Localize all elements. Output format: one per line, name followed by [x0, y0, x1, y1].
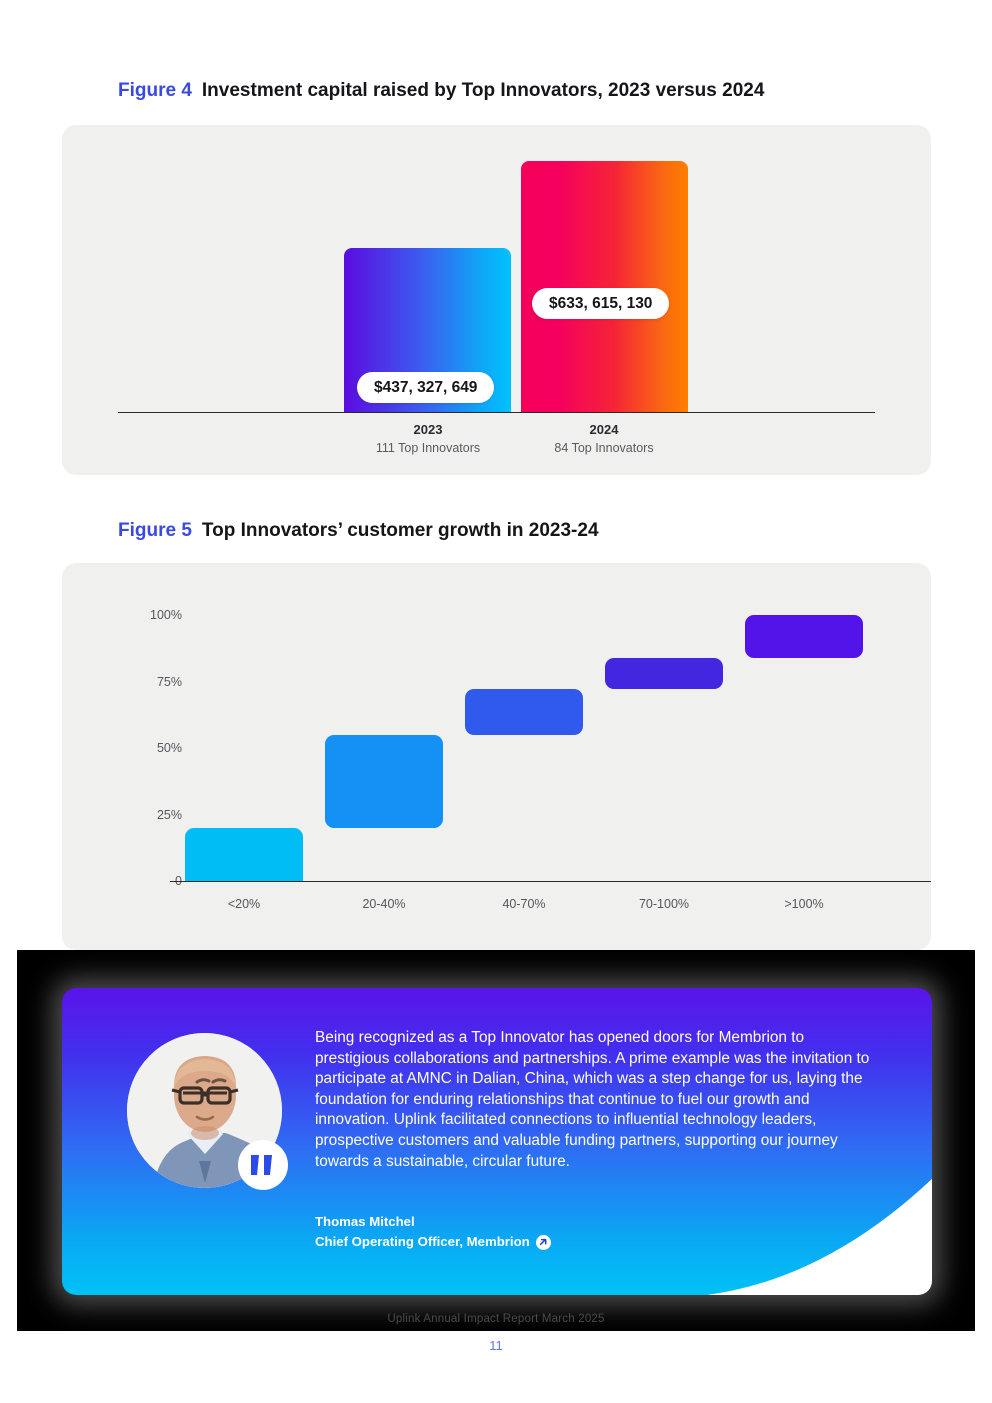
bar-70-100% — [605, 658, 723, 690]
bar-value-label-2024: $633, 615, 130 — [532, 288, 669, 319]
figure4-title: Investment capital raised by Top Innovat… — [202, 80, 765, 101]
x-axis-label-40-70%: 40-70% — [444, 897, 604, 911]
testimonial-text: Being recognized as a Top Innovator has … — [315, 1028, 878, 1172]
y-axis-tick-1: 25% — [122, 808, 182, 822]
figure5-y-axis: 025%50%75%100% — [122, 563, 182, 950]
figure4-heading: Figure 4Investment capital raised by Top… — [118, 80, 764, 102]
figure5-number: Figure 5 — [118, 520, 192, 541]
bar->100% — [745, 615, 863, 658]
x-axis-sublabel-2024: 84 Top Innovators — [489, 441, 719, 455]
y-axis-tick-3: 75% — [122, 675, 182, 689]
bar-20-40% — [325, 735, 443, 828]
figure4-baseline-axis — [118, 412, 875, 413]
x-axis-label->100%: >100% — [724, 897, 884, 911]
y-axis-tick-4: 100% — [122, 608, 182, 622]
x-axis-label-2024: 2024 84 Top Innovators — [489, 422, 719, 455]
quote-band-backdrop: Being recognized as a Top Innovator has … — [17, 950, 975, 1331]
figure5-heading: Figure 5Top Innovators’ customer growth … — [118, 520, 599, 542]
figure4-chart-panel: $437, 327, 649 $633, 615, 130 2023 111 T… — [62, 125, 931, 475]
bar-2024 — [521, 161, 688, 412]
bar-<20% — [185, 828, 303, 881]
x-axis-label-20-40%: 20-40% — [304, 897, 464, 911]
bar-40-70% — [465, 689, 583, 734]
x-axis-label-70-100%: 70-100% — [584, 897, 744, 911]
quote-mark-icon — [238, 1140, 288, 1190]
figure5-chart-panel: 025%50%75%100% <20%20-40%40-70%70-100%>1… — [62, 563, 931, 950]
testimonial-card: Being recognized as a Top Innovator has … — [62, 988, 932, 1295]
x-axis-label-<20%: <20% — [164, 897, 324, 911]
testimonial-role: Chief Operating Officer, Membrion — [315, 1232, 530, 1252]
bar-value-label-2023: $437, 327, 649 — [357, 372, 494, 403]
figure4-plot-area: $437, 327, 649 $633, 615, 130 2023 111 T… — [62, 125, 931, 475]
card-corner-swoosh — [688, 1177, 932, 1295]
figure5-baseline-axis — [170, 881, 931, 882]
page-number: 11 — [0, 1338, 992, 1353]
x-axis-year-2024: 2024 — [489, 422, 719, 437]
avatar — [127, 1033, 282, 1188]
y-axis-tick-2: 50% — [122, 741, 182, 755]
external-link-icon[interactable] — [536, 1235, 551, 1250]
figure5-title: Top Innovators’ customer growth in 2023-… — [202, 520, 599, 541]
footer-note: Uplink Annual Impact Report March 2025 — [0, 1313, 992, 1325]
figure4-number: Figure 4 — [118, 80, 192, 101]
